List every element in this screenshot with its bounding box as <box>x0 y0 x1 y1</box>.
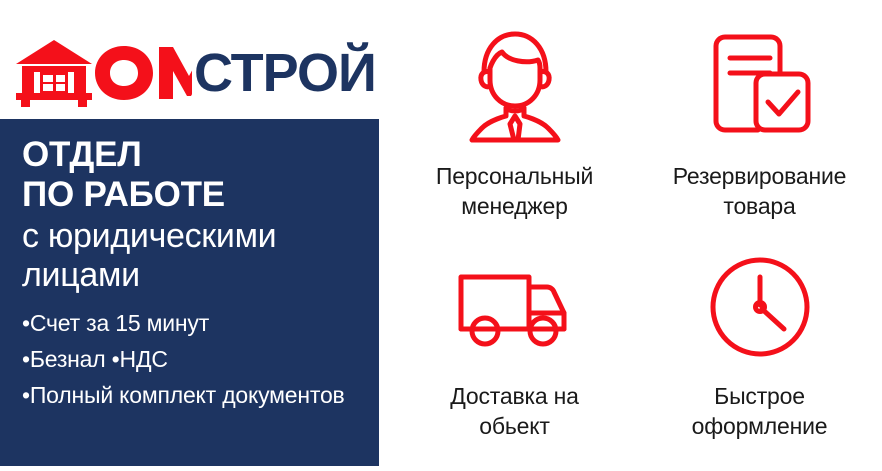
benefits-list: •Счет за 15 минут •Безнал •НДС •Полный к… <box>22 305 369 413</box>
document-check-icon <box>704 24 816 149</box>
promo-banner: СТРОЙ ОТДЕЛ ПО РАБОТЕ с юридическими лиц… <box>0 0 882 471</box>
feature-label: Персональный менеджер <box>436 161 593 221</box>
feature-reservation: Резервирование товара <box>637 18 882 238</box>
feature-delivery: Доставка на обьект <box>392 238 637 458</box>
panel-headline: ОТДЕЛ ПО РАБОТЕ <box>22 135 369 215</box>
person-manager-icon <box>460 24 570 149</box>
feature-fast-processing: Быстрое оформление <box>637 238 882 458</box>
feature-label: Резервирование товара <box>673 161 846 221</box>
features-grid: Персональный менеджер Резервирование тов… <box>392 18 882 458</box>
feature-label: Быстрое оформление <box>692 381 828 441</box>
logo-wordmark-navy: СТРОЙ <box>192 44 392 102</box>
feature-label: Доставка на обьект <box>450 381 578 441</box>
logo-spacer <box>10 38 192 112</box>
panel-subheadline: с юридическими лицами <box>22 217 369 295</box>
list-item: •Полный комплект документов <box>22 377 369 413</box>
feature-personal-manager: Персональный менеджер <box>392 18 637 238</box>
list-item: •Безнал •НДС <box>22 341 369 377</box>
info-panel: ОТДЕЛ ПО РАБОТЕ с юридическими лицами •С… <box>0 119 379 466</box>
clock-icon <box>704 244 816 369</box>
list-item: •Счет за 15 минут <box>22 305 369 341</box>
delivery-truck-icon <box>451 244 579 369</box>
